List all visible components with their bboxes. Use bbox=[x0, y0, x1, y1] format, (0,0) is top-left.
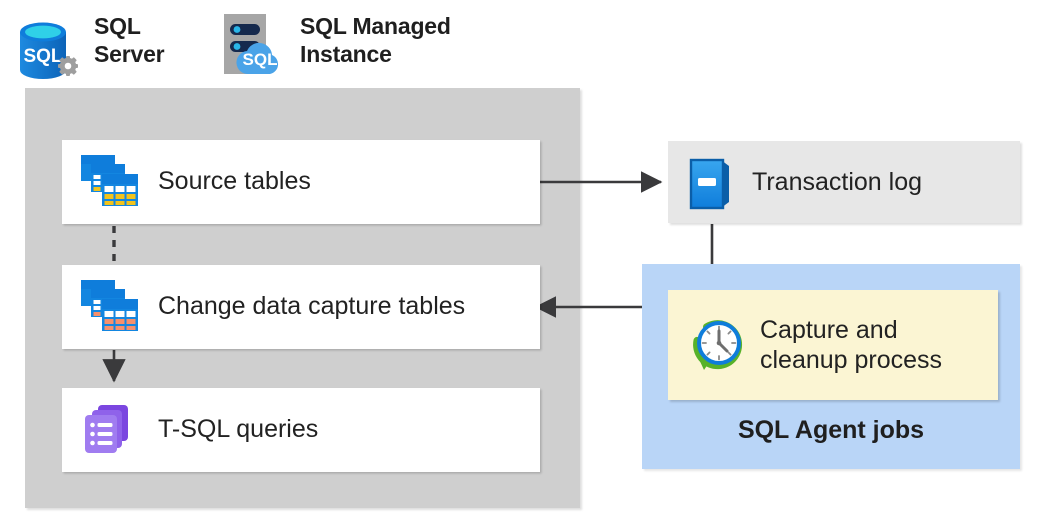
legend-sql-managed-instance-label: SQL ManagedInstance bbox=[300, 12, 451, 68]
svg-text:SQL: SQL bbox=[23, 46, 62, 67]
card-tsql-queries-label: T-SQL queries bbox=[158, 416, 318, 444]
legend-sql-server: SQL SQLServer bbox=[14, 8, 164, 89]
panel-transaction-log[interactable]: Transaction log bbox=[668, 141, 1020, 223]
legend-sql-managed-instance: SQL SQL ManagedInstance bbox=[218, 8, 451, 85]
sql-managed-instance-icon: SQL bbox=[218, 8, 286, 85]
book-icon bbox=[686, 156, 734, 208]
query-documents-icon bbox=[80, 401, 140, 459]
panel-transaction-log-label: Transaction log bbox=[752, 168, 922, 197]
legend-sql-server-label: SQLServer bbox=[94, 12, 164, 68]
card-source-tables[interactable]: Source tables bbox=[62, 140, 540, 224]
card-capture-and-cleanup-process[interactable]: Capture andcleanup process bbox=[668, 290, 998, 400]
stacked-tables-icon bbox=[80, 153, 140, 211]
card-capture-and-cleanup-process-label: Capture andcleanup process bbox=[760, 315, 942, 376]
panel-sql-agent-jobs-title: SQL Agent jobs bbox=[642, 416, 1020, 445]
card-change-data-capture-tables[interactable]: Change data capture tables bbox=[62, 265, 540, 349]
card-tsql-queries[interactable]: T-SQL queries bbox=[62, 388, 540, 472]
stacked-tables-icon bbox=[80, 278, 140, 336]
panel-sql-agent-jobs: Capture andcleanup process SQL Agent job… bbox=[642, 264, 1020, 469]
clock-refresh-icon bbox=[690, 318, 744, 372]
diagram-canvas: SQL SQLServer bbox=[0, 0, 1044, 527]
sql-server-database-icon: SQL bbox=[14, 8, 80, 89]
svg-text:SQL: SQL bbox=[243, 50, 278, 69]
card-source-tables-label: Source tables bbox=[158, 168, 311, 196]
card-change-data-capture-tables-label: Change data capture tables bbox=[158, 293, 465, 321]
